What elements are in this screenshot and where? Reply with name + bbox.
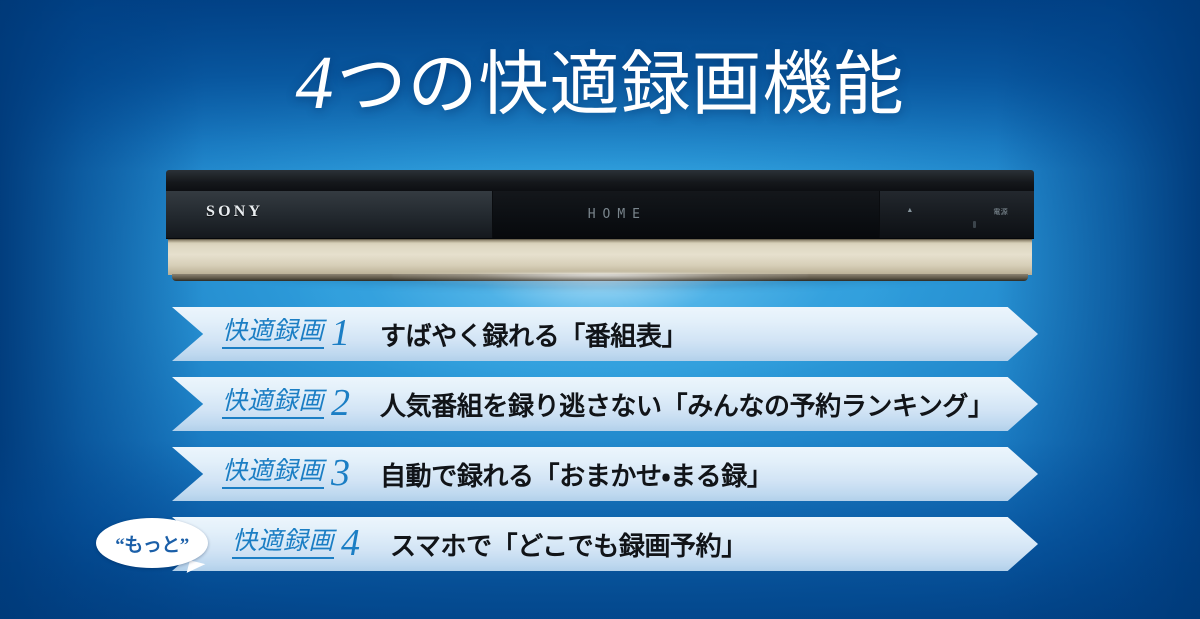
device-front-flap: Blu-ray Blu-ray Disc bbox=[168, 239, 1032, 275]
feature-number: 2 bbox=[331, 384, 350, 422]
device-indicator-led bbox=[973, 221, 976, 228]
sony-logo: SONY bbox=[206, 203, 263, 221]
device-button-panel bbox=[880, 191, 1034, 238]
feature-number: 3 bbox=[331, 454, 350, 492]
feature-text: スマホで「どこでも録画予約」 bbox=[390, 526, 747, 563]
eject-button[interactable]: ▲ bbox=[906, 207, 913, 214]
feature-text: 自動で録れる「おまかせ・まる録」 bbox=[380, 456, 772, 493]
device-display-text: HOME bbox=[588, 207, 647, 222]
device-bottom-highlight bbox=[392, 273, 809, 287]
bluray-recorder-image: SONY HOME ▲ 電源 Blu-ray Blu-ray Disc bbox=[166, 170, 1034, 282]
feature-row-2[interactable]: 快適録画 2 人気番組を録り逃さない「みんなの予約ランキング」 bbox=[172, 377, 1038, 431]
feature-label: 快適録画 bbox=[222, 319, 324, 349]
power-button[interactable]: 電源 bbox=[993, 207, 1008, 217]
page-title-numeral: 4 bbox=[296, 41, 337, 125]
device-top-surface bbox=[166, 170, 1034, 192]
feature-text: すばやく録れる「番組表」 bbox=[380, 316, 687, 353]
page-title-rest: つの快適録画機能 bbox=[337, 47, 905, 124]
page-title: 4つの快適録画機能 bbox=[0, 42, 1200, 126]
feature-number: 4 bbox=[341, 524, 360, 562]
feature-list: 快適録画 1 すばやく録れる「番組表」 快適録画 2 人気番組を録り逃さない「み… bbox=[172, 307, 1038, 587]
promo-slide: 4つの快適録画機能 SONY HOME ▲ 電源 Blu-ray Blu-ray… bbox=[0, 0, 1200, 619]
feature-label: 快適録画 bbox=[222, 389, 324, 419]
feature-number: 1 bbox=[331, 314, 350, 352]
feature-row-3[interactable]: 快適録画 3 自動で録れる「おまかせ・まる録」 bbox=[172, 447, 1038, 501]
speech-bubble-text: “もっと” bbox=[96, 518, 208, 568]
device-front-face: SONY HOME ▲ 電源 bbox=[166, 191, 1034, 239]
feature-row-4[interactable]: “もっと” 快適録画 4 スマホで「どこでも録画予約」 bbox=[172, 517, 1038, 571]
feature-text: 人気番組を録り逃さない「みんなの予約ランキング」 bbox=[380, 386, 994, 423]
device-left-panel: SONY bbox=[166, 191, 493, 238]
device-display-panel bbox=[493, 191, 880, 238]
motto-speech-bubble: “もっと” bbox=[96, 518, 208, 568]
feature-row-1[interactable]: 快適録画 1 すばやく録れる「番組表」 bbox=[172, 307, 1038, 361]
feature-label: 快適録画 bbox=[222, 459, 324, 489]
feature-label: 快適録画 bbox=[232, 529, 334, 559]
